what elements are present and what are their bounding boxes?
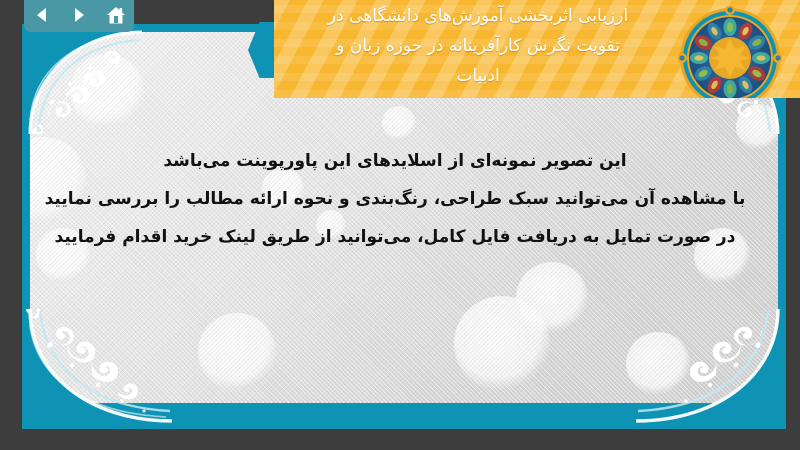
bokeh-circle bbox=[198, 313, 276, 391]
body-line-1: این تصویر نمونه‌ای از اسلایدهای این پاور… bbox=[22, 142, 768, 180]
slide-title-banner: ارزیابی اثربخشی آموزش‌های دانشگاهی در تق… bbox=[248, 0, 800, 98]
back-icon[interactable] bbox=[29, 3, 55, 27]
title-line-3: ادبیات bbox=[274, 61, 682, 91]
persian-medallion-icon bbox=[678, 6, 782, 98]
slide-viewer: این تصویر نمونه‌ای از اسلایدهای این پاور… bbox=[0, 0, 800, 450]
bokeh-circle bbox=[382, 106, 416, 140]
navigation-bar[interactable] bbox=[24, 0, 134, 32]
bokeh-circle bbox=[516, 262, 588, 334]
title-line-2: تقویت نگرش کارآفرینانه در حوزه زبان و bbox=[274, 31, 682, 61]
forward-icon[interactable] bbox=[66, 3, 92, 27]
bokeh-circle bbox=[454, 296, 550, 392]
bokeh-circle bbox=[626, 332, 690, 396]
body-line-2: با مشاهده آن می‌توانید سبک طراحی، رنگ‌بن… bbox=[22, 180, 768, 218]
slide-body-text: این تصویر نمونه‌ای از اسلایدهای این پاور… bbox=[22, 142, 768, 256]
page-title: ارزیابی اثربخشی آموزش‌های دانشگاهی در تق… bbox=[274, 1, 682, 91]
title-line-1: ارزیابی اثربخشی آموزش‌های دانشگاهی در bbox=[274, 1, 682, 31]
slide-bottom-band bbox=[22, 403, 786, 429]
home-icon[interactable] bbox=[103, 3, 129, 27]
body-line-3: در صورت تمایل به دریافت فایل کامل، می‌تو… bbox=[22, 218, 768, 256]
bokeh-circle bbox=[70, 54, 144, 128]
